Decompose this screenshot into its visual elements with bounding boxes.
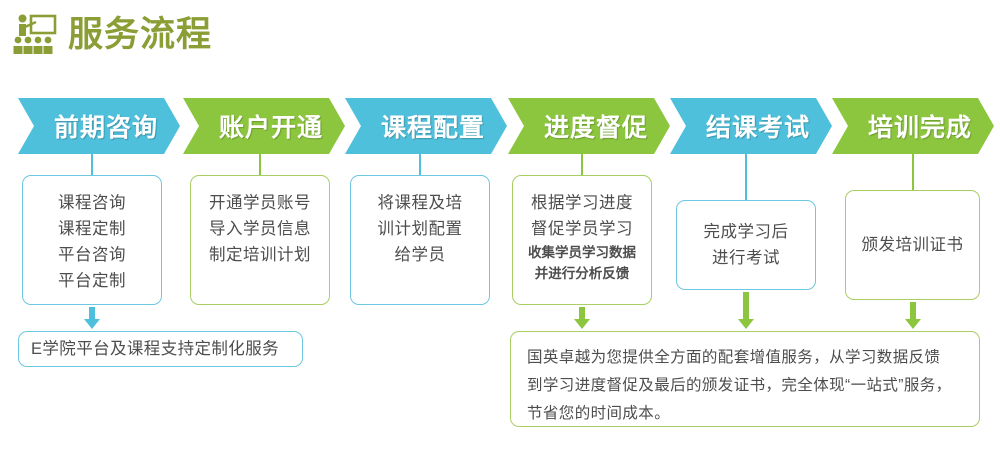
step-3-line-2: 训计划配置	[378, 216, 463, 242]
process-step-banner-row: 前期咨询账户开通课程配置进度督促结课考试培训完成	[0, 98, 1000, 154]
step-5-line-2: 进行考试	[712, 245, 780, 271]
process-step-1-label: 前期咨询	[54, 108, 158, 144]
note-box-right: 国英卓越为您提供全方面的配套增值服务，从学习数据反馈 到学习进度督促及最后的颁发…	[510, 331, 980, 427]
step-5-line-1: 完成学习后	[704, 219, 789, 245]
step-4-subline-2: 并进行分析反馈	[535, 263, 630, 284]
step-1-line-1: 课程咨询	[58, 190, 126, 216]
connector-stem-4	[581, 154, 583, 175]
process-step-4-banner[interactable]: 进度督促	[508, 98, 670, 154]
process-step-3-banner[interactable]: 课程配置	[345, 98, 507, 154]
step-1-line-3: 平台咨询	[58, 242, 126, 268]
process-step-6-label: 培训完成	[868, 108, 972, 144]
step-1-line-4: 平台定制	[58, 268, 126, 294]
arrow-down-icon	[737, 292, 755, 329]
process-step-2-banner[interactable]: 账户开通	[183, 98, 345, 154]
step-detail-box-5: 完成学习后进行考试	[676, 200, 816, 290]
note-left-text: E学院平台及课程支持定制化服务	[19, 336, 291, 362]
note-right-line-2: 到学习进度督促及最后的颁发证书，完全体现“一站式”服务，	[527, 372, 952, 400]
service-process-infographic: 服务流程 前期咨询账户开通课程配置进度督促结课考试培训完成 课程咨询课程定制平台…	[0, 0, 1000, 459]
step-2-line-3: 制定培训计划	[209, 242, 311, 268]
process-step-1-banner[interactable]: 前期咨询	[18, 98, 180, 154]
down-arrow-to-right-note-1	[573, 307, 591, 329]
down-arrow-to-right-note-3	[904, 302, 922, 329]
page-header: 服务流程	[12, 12, 212, 58]
step-1-line-2: 课程定制	[58, 216, 126, 242]
connector-stem-6	[912, 154, 914, 190]
presentation-audience-icon	[12, 12, 58, 58]
step-4-subline-1: 收集学员学习数据	[528, 242, 636, 263]
step-detail-box-6: 颁发培训证书	[845, 190, 980, 300]
step-6-line-1: 颁发培训证书	[862, 232, 964, 258]
step-4-line-2: 督促学员学习	[531, 216, 633, 242]
arrow-down-icon	[904, 302, 922, 329]
step-3-line-1: 将课程及培	[378, 190, 463, 216]
process-step-4-label: 进度督促	[544, 108, 648, 144]
page-title: 服务流程	[68, 12, 212, 58]
down-arrow-to-left-note	[83, 307, 101, 329]
step-detail-box-2: 开通学员账号导入学员信息制定培训计划	[190, 175, 330, 305]
process-step-5-banner[interactable]: 结课考试	[670, 98, 832, 154]
connector-stem-5	[745, 154, 747, 200]
process-step-2-label: 账户开通	[219, 108, 323, 144]
step-4-line-1: 根据学习进度	[531, 190, 633, 216]
process-step-6-banner[interactable]: 培训完成	[832, 98, 994, 154]
process-step-3-label: 课程配置	[381, 108, 485, 144]
connector-stem-3	[419, 154, 421, 175]
step-detail-box-3: 将课程及培训计划配置给学员	[350, 175, 490, 305]
down-arrow-to-right-note-2	[737, 292, 755, 329]
step-detail-box-4: 根据学习进度督促学员学习收集学员学习数据并进行分析反馈	[512, 175, 652, 305]
arrow-down-icon	[573, 307, 591, 329]
arrow-down-icon	[83, 307, 101, 329]
step-3-line-3: 给学员	[395, 242, 446, 268]
process-step-5-label: 结课考试	[706, 108, 810, 144]
step-2-line-2: 导入学员信息	[209, 216, 311, 242]
note-right-text: 国英卓越为您提供全方面的配套增值服务，从学习数据反馈 到学习进度督促及最后的颁发…	[511, 332, 968, 428]
note-right-line-1: 国英卓越为您提供全方面的配套增值服务，从学习数据反馈	[527, 344, 952, 372]
step-2-line-1: 开通学员账号	[209, 190, 311, 216]
connector-stem-1	[91, 154, 93, 175]
connector-stem-2	[259, 154, 261, 175]
note-right-line-3: 节省您的时间成本。	[527, 400, 952, 428]
note-box-left: E学院平台及课程支持定制化服务	[18, 331, 303, 367]
step-detail-box-1: 课程咨询课程定制平台咨询平台定制	[22, 175, 162, 305]
